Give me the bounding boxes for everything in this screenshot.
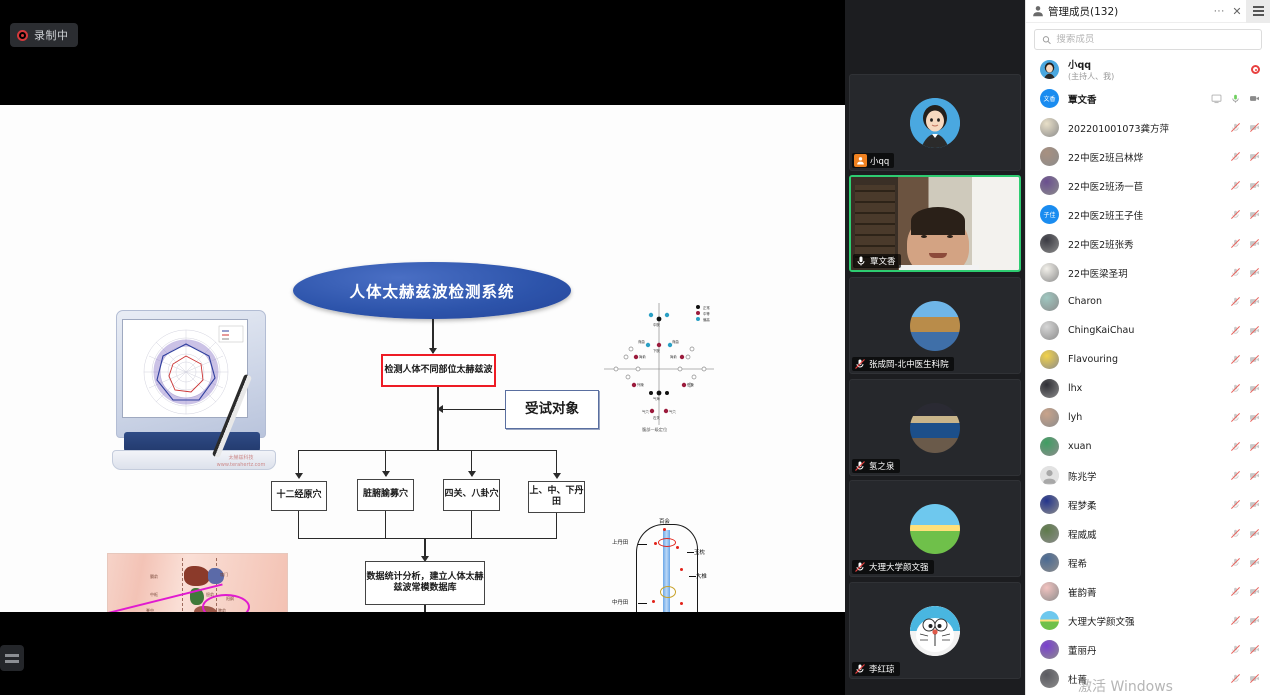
camera-off-icon[interactable] bbox=[1249, 296, 1260, 307]
back-acupoint-image: 膈俞 魂门 中枢 胆俞 阳纲 脊中 脾俞 意舍 胃俞 胃仓 悬枢 三焦俞 肓门 … bbox=[107, 553, 288, 612]
tile-label: 小qq bbox=[870, 155, 889, 167]
member-name: 程梦柔 bbox=[1068, 498, 1221, 512]
tile-label: 大理大学颜文强 bbox=[869, 561, 929, 573]
connector bbox=[298, 538, 557, 539]
member-name: 202201001073龚方萍 bbox=[1068, 121, 1221, 135]
member-name-block: 22中医2班吕林烨 bbox=[1068, 150, 1221, 164]
mic-muted-icon[interactable] bbox=[1230, 499, 1241, 510]
avatar bbox=[1040, 437, 1059, 456]
member-row[interactable]: Flavouring bbox=[1026, 345, 1270, 374]
avatar bbox=[910, 606, 960, 656]
member-name-block: 程梦柔 bbox=[1068, 498, 1221, 512]
flow-node-detect-label: 检测人体不同部位太赫兹波 bbox=[384, 365, 492, 376]
flow-title-text: 人体太赫兹波检测系统 bbox=[349, 280, 514, 302]
svg-text:商曲: 商曲 bbox=[672, 339, 679, 344]
member-name: xuan bbox=[1068, 441, 1221, 452]
member-name: ChingKaiChau bbox=[1068, 325, 1221, 336]
member-name-block: 大理大学颜文强 bbox=[1068, 614, 1221, 628]
flow-node-branch4-label: 上、中、下丹田 bbox=[529, 486, 584, 509]
member-row[interactable]: 大理大学颜文强 bbox=[1026, 606, 1270, 635]
avatar bbox=[1040, 466, 1059, 485]
mic-muted-icon bbox=[854, 663, 866, 675]
camera-off-icon[interactable] bbox=[1249, 325, 1260, 336]
member-name-block: lyh bbox=[1068, 412, 1221, 423]
flow-node-database-label: 数据统计分析，建立人体太赫兹波常模数据库 bbox=[366, 572, 484, 595]
tile-label: 张成岡-北中医生科院 bbox=[869, 358, 949, 370]
member-controls[interactable] bbox=[1230, 528, 1260, 539]
camera-off-icon[interactable] bbox=[1249, 354, 1260, 365]
mic-muted-icon[interactable] bbox=[1230, 557, 1241, 568]
tile-label: 李红琼 bbox=[869, 663, 895, 675]
connector bbox=[298, 511, 299, 539]
member-name-block: Flavouring bbox=[1068, 354, 1221, 365]
member-name: Charon bbox=[1068, 296, 1221, 307]
connector bbox=[556, 513, 557, 539]
mic-muted-icon[interactable] bbox=[1230, 151, 1241, 162]
arrow bbox=[553, 473, 561, 479]
svg-text:商曲: 商曲 bbox=[638, 339, 645, 344]
mic-muted-icon[interactable] bbox=[1230, 528, 1241, 539]
avatar bbox=[1040, 408, 1059, 427]
camera-off-icon[interactable] bbox=[1249, 673, 1260, 684]
member-controls[interactable] bbox=[1211, 93, 1260, 104]
member-name: 程威威 bbox=[1068, 527, 1221, 541]
avatar bbox=[910, 301, 960, 351]
arrow bbox=[382, 471, 390, 477]
mic-on-icon bbox=[855, 255, 867, 267]
member-controls[interactable] bbox=[1230, 441, 1260, 452]
avatar bbox=[910, 504, 960, 554]
tile-name-4: 大理大学颜文强 bbox=[852, 560, 934, 574]
meeting-window: 录制中 bbox=[0, 0, 1270, 695]
camera-off-icon[interactable] bbox=[1249, 209, 1260, 220]
svg-text:外陵: 外陵 bbox=[637, 382, 644, 387]
member-row[interactable]: 程希 bbox=[1026, 548, 1270, 577]
member-controls[interactable] bbox=[1230, 209, 1260, 220]
member-controls[interactable] bbox=[1230, 586, 1260, 597]
member-controls[interactable] bbox=[1230, 151, 1260, 162]
record-dot-icon bbox=[17, 30, 28, 41]
camera-off-icon[interactable] bbox=[1249, 122, 1260, 133]
member-row[interactable]: Charon bbox=[1026, 287, 1270, 316]
member-list[interactable]: 小qq(主持人、我)文香覃文香202201001073龚方萍22中医2班吕林烨2… bbox=[1026, 55, 1270, 695]
hamburger-icon[interactable] bbox=[1246, 0, 1270, 23]
avatar bbox=[1040, 495, 1059, 514]
mic-muted-icon[interactable] bbox=[1230, 673, 1241, 684]
member-row[interactable]: 程梦柔 bbox=[1026, 490, 1270, 519]
camera-off-icon[interactable] bbox=[1249, 499, 1260, 510]
recording-label: 录制中 bbox=[34, 27, 69, 43]
member-name-block: 崔韵菁 bbox=[1068, 585, 1221, 599]
camera-off-icon[interactable] bbox=[1249, 267, 1260, 278]
mic-muted-icon[interactable] bbox=[1230, 615, 1241, 626]
mic-muted-icon[interactable] bbox=[1230, 644, 1241, 655]
mic-muted-icon bbox=[854, 358, 866, 370]
mic-muted-icon[interactable] bbox=[1230, 267, 1241, 278]
member-row[interactable]: 陈兆学 bbox=[1026, 461, 1270, 490]
tile-name-2: 张成岡-北中医生科院 bbox=[852, 357, 954, 371]
connector bbox=[298, 450, 556, 451]
member-name: 杜菁 bbox=[1068, 672, 1221, 686]
member-row[interactable]: 程威威 bbox=[1026, 519, 1270, 548]
more-dots-icon[interactable]: ··· bbox=[1210, 0, 1228, 23]
tile-name-0: 小qq bbox=[852, 153, 894, 168]
member-row[interactable]: lhx bbox=[1026, 374, 1270, 403]
mic-muted-icon[interactable] bbox=[1230, 412, 1241, 423]
member-name: Flavouring bbox=[1068, 354, 1221, 365]
member-name: 22中医2班吕林烨 bbox=[1068, 150, 1221, 164]
shared-screen-stage: 录制中 bbox=[0, 0, 845, 695]
member-name-block: 董丽丹 bbox=[1068, 643, 1221, 657]
svg-text:外陵: 外陵 bbox=[687, 382, 694, 387]
member-name: 程希 bbox=[1068, 556, 1221, 570]
mic-muted-icon bbox=[854, 460, 866, 472]
mic-muted-icon[interactable] bbox=[1230, 180, 1241, 191]
member-row[interactable]: ChingKaiChau bbox=[1026, 316, 1270, 345]
mic-muted-icon[interactable] bbox=[1230, 296, 1241, 307]
video-tile-0[interactable]: 小qq bbox=[849, 74, 1021, 171]
member-controls[interactable] bbox=[1230, 615, 1260, 626]
member-name: 陈兆学 bbox=[1068, 469, 1221, 483]
member-name: 覃文香 bbox=[1068, 92, 1202, 106]
person-icon bbox=[1032, 5, 1044, 17]
svg-text:中等: 中等 bbox=[703, 311, 710, 316]
mic-muted-icon[interactable] bbox=[1230, 354, 1241, 365]
host-badge-icon bbox=[854, 154, 867, 167]
video-tile-3[interactable]: 氢之泉 bbox=[849, 379, 1021, 476]
member-row[interactable]: 22中医梁圣玥 bbox=[1026, 258, 1270, 287]
tile-name-1: 覃文香 bbox=[853, 254, 901, 268]
member-name-block: Charon bbox=[1068, 296, 1221, 307]
svg-text:气海: 气海 bbox=[653, 396, 660, 401]
member-row[interactable]: 杜菁 bbox=[1026, 664, 1270, 693]
avatar bbox=[1040, 553, 1059, 572]
svg-text:腹部一级定位: 腹部一级定位 bbox=[642, 426, 667, 433]
recording-badge: 录制中 bbox=[10, 23, 78, 47]
tile-label: 氢之泉 bbox=[869, 460, 895, 472]
member-row[interactable]: lyh bbox=[1026, 403, 1270, 432]
search-input[interactable] bbox=[1056, 34, 1254, 45]
member-controls[interactable] bbox=[1230, 673, 1260, 684]
avatar bbox=[1040, 640, 1059, 659]
flow-node-subject-label: 受试对象 bbox=[525, 401, 579, 418]
flow-node-branch3: 四关、八卦穴 bbox=[443, 479, 500, 511]
member-name-block: 程威威 bbox=[1068, 527, 1221, 541]
flow-node-branch3-label: 四关、八卦穴 bbox=[444, 489, 498, 500]
member-controls[interactable] bbox=[1230, 180, 1260, 191]
member-controls[interactable] bbox=[1230, 412, 1260, 423]
member-row[interactable]: 202201001073龚方萍 bbox=[1026, 113, 1270, 142]
camera-off-icon[interactable] bbox=[1249, 180, 1260, 191]
member-row[interactable]: xuan bbox=[1026, 432, 1270, 461]
member-name-block: 小qq(主持人、我) bbox=[1068, 57, 1242, 82]
camera-off-icon[interactable] bbox=[1249, 615, 1260, 626]
member-name-block: xuan bbox=[1068, 441, 1221, 452]
member-controls[interactable] bbox=[1230, 557, 1260, 568]
connector bbox=[443, 409, 505, 410]
avatar bbox=[1040, 234, 1059, 253]
flow-node-branch2-label: 脏腑腧募穴 bbox=[363, 489, 408, 500]
member-name-block: lhx bbox=[1068, 383, 1221, 394]
tile-label: 覃文香 bbox=[870, 255, 896, 267]
panel-header: 管理成员(132) ··· ✕ bbox=[1026, 0, 1270, 23]
member-name: 22中医梁圣玥 bbox=[1068, 266, 1221, 280]
video-tile-2[interactable]: 张成岡-北中医生科院 bbox=[849, 277, 1021, 374]
avatar bbox=[1040, 524, 1059, 543]
recording-indicator-icon bbox=[1251, 65, 1260, 74]
member-name-block: ChingKaiChau bbox=[1068, 325, 1221, 336]
member-row[interactable]: 22中医2班汤一苣 bbox=[1026, 171, 1270, 200]
dantian-body-diagram: 百会 上丹田 玉枕 大椎 中丹田 命门 下丹田 尾闾 会阴 bbox=[604, 510, 734, 612]
member-row[interactable]: 董丽丹 bbox=[1026, 635, 1270, 664]
mic-muted-icon[interactable] bbox=[1230, 441, 1241, 452]
avatar bbox=[1040, 379, 1059, 398]
flow-node-branch1-label: 十二经原穴 bbox=[276, 490, 321, 501]
arrow bbox=[468, 471, 476, 477]
member-name: 22中医2班汤一苣 bbox=[1068, 179, 1221, 193]
device-watermark: 太赫兹科技 www.terahertz.com bbox=[206, 455, 276, 468]
share-screen-icon[interactable] bbox=[1211, 93, 1222, 104]
member-name: lhx bbox=[1068, 383, 1221, 394]
presentation-slide: 太赫兹科技 www.terahertz.com bbox=[0, 105, 845, 612]
member-name: 小qq bbox=[1068, 57, 1242, 71]
member-row[interactable]: 22中医2班张秀 bbox=[1026, 229, 1270, 258]
flow-node-detect: 检测人体不同部位太赫兹波 bbox=[381, 354, 496, 387]
member-name-block: 陈兆学 bbox=[1068, 469, 1221, 483]
avatar bbox=[1040, 669, 1059, 688]
camera-off-icon[interactable] bbox=[1249, 586, 1260, 597]
mic-muted-icon[interactable] bbox=[1230, 209, 1241, 220]
search-box[interactable] bbox=[1034, 29, 1262, 50]
svg-text:正常: 正常 bbox=[703, 305, 710, 310]
member-controls[interactable] bbox=[1230, 383, 1260, 394]
member-name: 22中医2班王子佳 bbox=[1068, 208, 1221, 222]
member-controls[interactable] bbox=[1230, 267, 1260, 278]
member-name-block: 22中医2班张秀 bbox=[1068, 237, 1221, 251]
member-row[interactable]: 22中医2班吕林烨 bbox=[1026, 142, 1270, 171]
svg-text:石关: 石关 bbox=[653, 415, 660, 420]
camera-off-icon[interactable] bbox=[1249, 441, 1260, 452]
acupoint-grid-chart: 正常 中等 偏高 中脘 商曲 商曲 下脘 肓俞 肓俞 外陵 外陵 气海 气穴 气… bbox=[598, 297, 720, 437]
mic-muted-icon[interactable] bbox=[1230, 586, 1241, 597]
member-name-block: 202201001073龚方萍 bbox=[1068, 121, 1221, 135]
flow-node-branch2: 脏腑腧募穴 bbox=[357, 479, 414, 511]
tile-name-3: 氢之泉 bbox=[852, 459, 900, 473]
camera-off-icon[interactable] bbox=[1249, 470, 1260, 481]
svg-text:气穴: 气穴 bbox=[642, 409, 649, 414]
connector bbox=[385, 511, 386, 539]
flow-node-branch1: 十二经原穴 bbox=[271, 481, 327, 511]
member-row[interactable]: 小qq(主持人、我) bbox=[1026, 55, 1270, 84]
camera-on-icon[interactable] bbox=[1249, 93, 1260, 104]
member-name-block: 22中医梁圣玥 bbox=[1068, 266, 1221, 280]
member-controls[interactable] bbox=[1230, 325, 1260, 336]
avatar bbox=[1040, 321, 1059, 340]
member-name-block: 22中医2班汤一苣 bbox=[1068, 179, 1221, 193]
svg-text:下脘: 下脘 bbox=[653, 348, 660, 353]
member-row[interactable]: 文香覃文香 bbox=[1026, 84, 1270, 113]
svg-text:肓俞: 肓俞 bbox=[670, 354, 677, 359]
video-tile-1[interactable]: 覃文香 bbox=[849, 175, 1021, 272]
arrow bbox=[295, 473, 303, 479]
avatar: 子佳 bbox=[1040, 205, 1059, 224]
avatar bbox=[1040, 350, 1059, 369]
camera-off-icon[interactable] bbox=[1249, 412, 1260, 423]
member-controls[interactable] bbox=[1230, 238, 1260, 249]
member-name: 崔韵菁 bbox=[1068, 585, 1221, 599]
avatar bbox=[1040, 263, 1059, 282]
terahertz-device-image: 太赫兹科技 www.terahertz.com bbox=[110, 310, 278, 470]
member-panel: 管理成员(132) ··· ✕ 小qq(主持人、我)文香覃文香202201001… bbox=[1025, 0, 1270, 695]
camera-off-icon[interactable] bbox=[1249, 151, 1260, 162]
member-name: 22中医2班张秀 bbox=[1068, 237, 1221, 251]
mic-muted-icon[interactable] bbox=[1230, 122, 1241, 133]
svg-text:肓俞: 肓俞 bbox=[639, 354, 646, 359]
member-row[interactable]: 子佳22中医2班王子佳 bbox=[1026, 200, 1270, 229]
camera-off-icon[interactable] bbox=[1249, 557, 1260, 568]
camera-off-icon[interactable] bbox=[1249, 644, 1260, 655]
svg-text:气穴: 气穴 bbox=[669, 409, 676, 414]
close-icon[interactable]: ✕ bbox=[1228, 0, 1246, 23]
member-role: (主持人、我) bbox=[1068, 71, 1242, 82]
member-name-block: 程希 bbox=[1068, 556, 1221, 570]
avatar bbox=[910, 98, 960, 148]
member-name-block: 覃文香 bbox=[1068, 92, 1202, 106]
flow-node-subject: 受试对象 bbox=[505, 390, 599, 429]
member-name-block: 杜菁 bbox=[1068, 672, 1221, 686]
flow-title-node: 人体太赫兹波检测系统 bbox=[293, 262, 571, 319]
flow-node-database: 数据统计分析，建立人体太赫兹波常模数据库 bbox=[365, 561, 485, 605]
member-controls[interactable] bbox=[1230, 296, 1260, 307]
member-name: 大理大学颜文强 bbox=[1068, 614, 1221, 628]
avatar bbox=[1040, 60, 1059, 79]
mic-muted-icon[interactable] bbox=[1230, 383, 1241, 394]
stage-menu-button[interactable] bbox=[0, 645, 24, 671]
video-filmstrip[interactable]: 小qq 覃文香 bbox=[845, 0, 1025, 695]
video-tile-5[interactable]: 李红琼 bbox=[849, 582, 1021, 679]
member-controls[interactable] bbox=[1251, 65, 1260, 74]
avatar bbox=[1040, 118, 1059, 137]
avatar bbox=[1040, 176, 1059, 195]
panel-title: 管理成员(132) bbox=[1048, 4, 1118, 19]
mic-muted-icon bbox=[854, 561, 866, 573]
camera-off-icon[interactable] bbox=[1249, 238, 1260, 249]
member-name-block: 22中医2班王子佳 bbox=[1068, 208, 1221, 222]
mic-on-icon[interactable] bbox=[1230, 93, 1241, 104]
mic-muted-icon[interactable] bbox=[1230, 325, 1241, 336]
avatar: 文香 bbox=[1040, 89, 1059, 108]
search-area bbox=[1026, 23, 1270, 55]
member-row[interactable]: 崔韵菁 bbox=[1026, 577, 1270, 606]
member-name: 董丽丹 bbox=[1068, 643, 1221, 657]
avatar bbox=[910, 403, 960, 453]
connector bbox=[471, 511, 472, 539]
video-tile-4[interactable]: 大理大学颜文强 bbox=[849, 480, 1021, 577]
member-controls[interactable] bbox=[1230, 470, 1260, 481]
avatar bbox=[1040, 611, 1059, 630]
camera-off-icon[interactable] bbox=[1249, 383, 1260, 394]
member-controls[interactable] bbox=[1230, 354, 1260, 365]
avatar bbox=[1040, 292, 1059, 311]
svg-text:中脘: 中脘 bbox=[653, 322, 660, 327]
mic-muted-icon[interactable] bbox=[1230, 238, 1241, 249]
connector bbox=[424, 605, 426, 612]
tile-name-5: 李红琼 bbox=[852, 662, 900, 676]
search-icon bbox=[1042, 35, 1051, 45]
member-controls[interactable] bbox=[1230, 122, 1260, 133]
avatar bbox=[1040, 147, 1059, 166]
avatar bbox=[1040, 582, 1059, 601]
radar-chart-graphic bbox=[123, 320, 249, 419]
mic-muted-icon[interactable] bbox=[1230, 470, 1241, 481]
member-controls[interactable] bbox=[1230, 644, 1260, 655]
camera-off-icon[interactable] bbox=[1249, 528, 1260, 539]
member-controls[interactable] bbox=[1230, 499, 1260, 510]
flow-node-branch4: 上、中、下丹田 bbox=[528, 481, 585, 513]
member-name: lyh bbox=[1068, 412, 1221, 423]
svg-text:偏高: 偏高 bbox=[703, 317, 710, 322]
connector bbox=[437, 387, 439, 451]
